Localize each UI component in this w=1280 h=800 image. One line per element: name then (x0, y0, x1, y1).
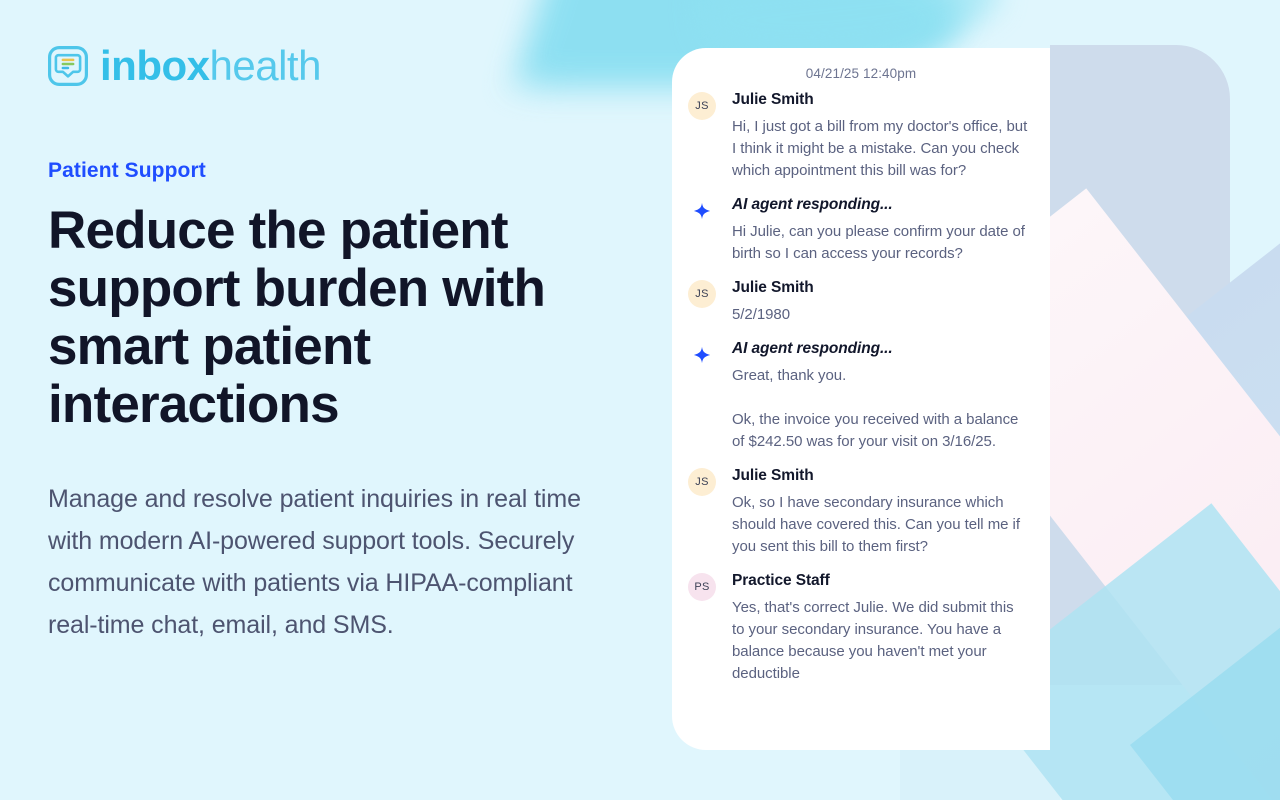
message-gutter (688, 340, 732, 453)
message-gutter: PS (688, 572, 732, 685)
avatar: JS (688, 468, 716, 496)
hero-description: Manage and resolve patient inquiries in … (48, 478, 588, 646)
message-sender-name: Julie Smith (732, 91, 1030, 109)
message-sender-name: Julie Smith (732, 279, 1030, 297)
ai-agent-status-label: AI agent responding... (732, 196, 1030, 214)
message-gutter: JS (688, 91, 732, 182)
message-text: Ok, the invoice you received with a bala… (732, 409, 1030, 453)
chat-message-list: JSJulie SmithHi, I just got a bill from … (672, 91, 1050, 685)
chat-timestamp: 04/21/25 12:40pm (672, 62, 1050, 91)
hero-content-column: inboxhealth Patient Support Reduce the p… (48, 0, 648, 800)
message-sender-name: Julie Smith (732, 467, 1030, 485)
avatar: JS (688, 280, 716, 308)
chat-message: JSJulie Smith5/2/1980 (672, 279, 1050, 326)
avatar: JS (688, 92, 716, 120)
message-gutter: JS (688, 279, 732, 326)
sparkle-icon (688, 197, 716, 225)
message-gutter: JS (688, 467, 732, 558)
bottom-cyan-shape-secondary (1130, 585, 1280, 800)
message-body: AI agent responding...Hi Julie, can you … (732, 196, 1030, 265)
chat-preview-card: 04/21/25 12:40pm JSJulie SmithHi, I just… (672, 48, 1050, 750)
message-body: AI agent responding...Great, thank you.O… (732, 340, 1030, 453)
card-backdrop-plate (1050, 45, 1230, 685)
page-title: Reduce the patient support burden with s… (48, 202, 608, 434)
chat-message: PSPractice StaffYes, that's correct Juli… (672, 572, 1050, 685)
inbox-message-icon (48, 46, 88, 86)
message-text: Great, thank you. (732, 365, 1030, 387)
message-text: Yes, that's correct Julie. We did submit… (732, 597, 1030, 685)
brand-name-bold: inbox (100, 42, 210, 89)
brand-logo[interactable]: inboxhealth (48, 45, 321, 87)
message-text: Hi Julie, can you please confirm your da… (732, 221, 1030, 265)
chat-message: JSJulie SmithHi, I just got a bill from … (672, 91, 1050, 182)
message-body: Practice StaffYes, that's correct Julie.… (732, 572, 1030, 685)
chat-message: JSJulie SmithOk, so I have secondary ins… (672, 467, 1050, 558)
message-text: Ok, so I have secondary insurance which … (732, 492, 1030, 558)
message-body: Julie SmithHi, I just got a bill from my… (732, 91, 1030, 182)
message-sender-name: Practice Staff (732, 572, 1030, 590)
diagonal-blue-band (1118, 185, 1280, 800)
brand-name-light: health (210, 42, 321, 89)
message-gutter (688, 196, 732, 265)
message-text: 5/2/1980 (732, 304, 1030, 326)
message-text: Hi, I just got a bill from my doctor's o… (732, 116, 1030, 182)
message-body: Julie Smith5/2/1980 (732, 279, 1030, 326)
message-body: Julie SmithOk, so I have secondary insur… (732, 467, 1030, 558)
eyebrow-label: Patient Support (48, 159, 206, 183)
avatar: PS (688, 573, 716, 601)
brand-wordmark: inboxhealth (100, 45, 321, 87)
ai-agent-status-label: AI agent responding... (732, 340, 1030, 358)
chat-thread: 04/21/25 12:40pm JSJulie SmithHi, I just… (672, 48, 1050, 750)
chat-message: AI agent responding...Hi Julie, can you … (672, 196, 1050, 265)
sparkle-icon (688, 341, 716, 369)
chat-message: AI agent responding...Great, thank you.O… (672, 340, 1050, 453)
